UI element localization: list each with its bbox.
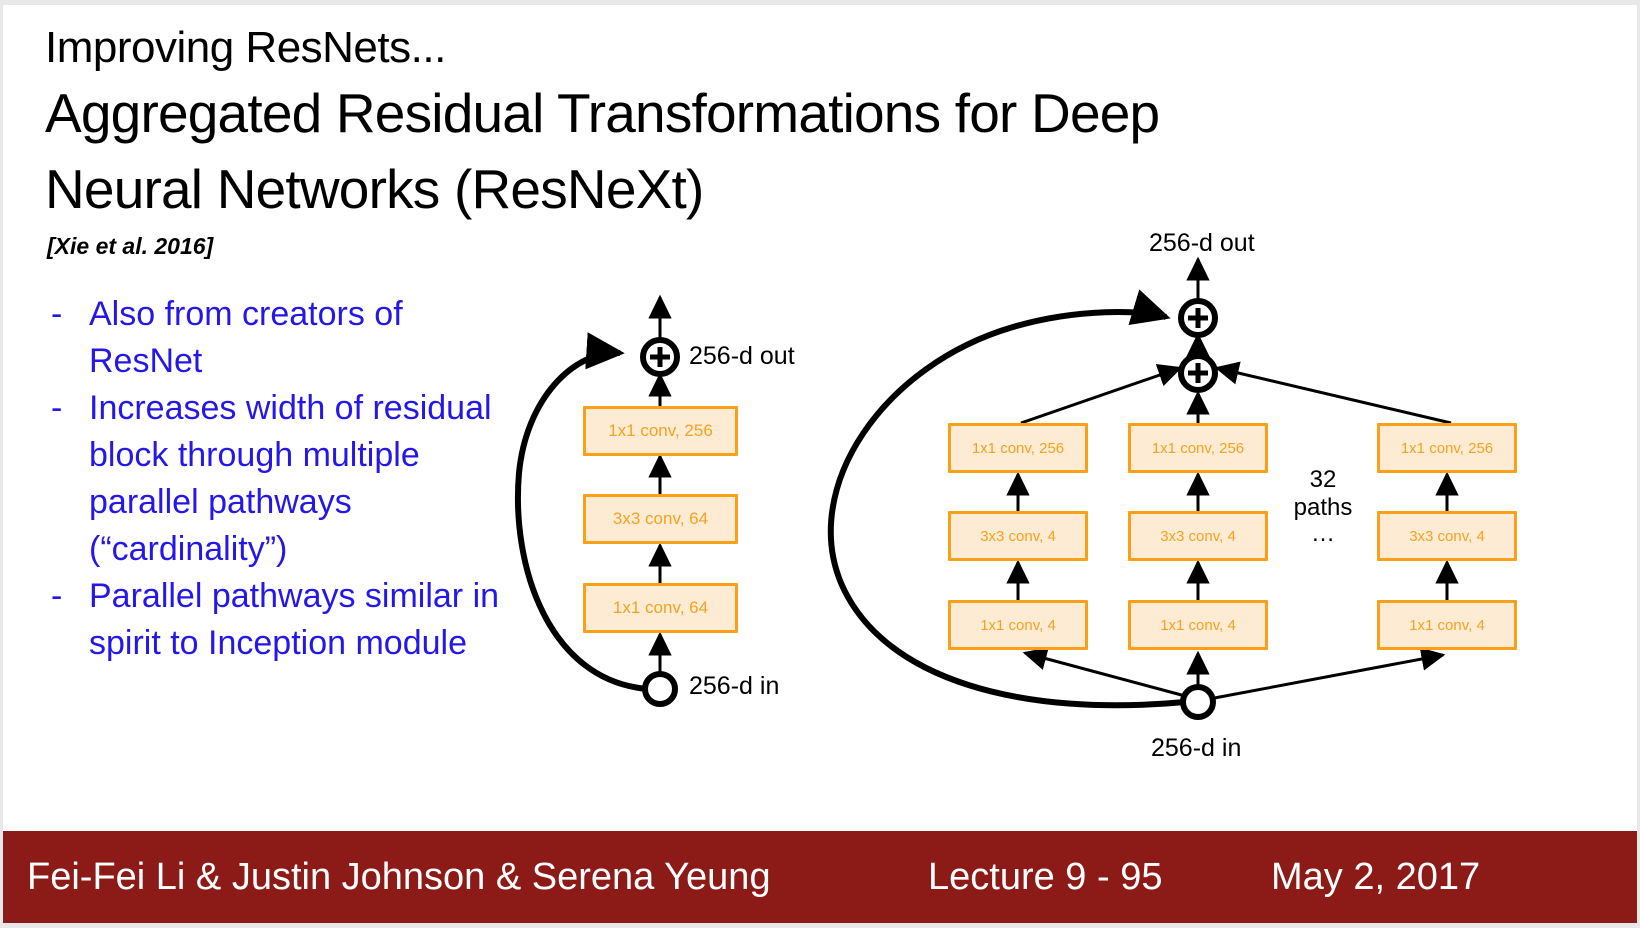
bullet-text: Also from creators of ResNet — [89, 291, 511, 385]
footer-authors: Fei-Fei Li & Justin Johnson & Serena Yeu… — [27, 831, 771, 923]
list-item: - Also from creators of ResNet — [51, 291, 511, 385]
bullet-dash-icon: - — [51, 385, 89, 432]
title-line-1: Aggregated Residual Transformations for … — [45, 75, 1445, 151]
slide-title-block: Improving ResNets... Aggregated Residual… — [45, 21, 1445, 227]
paths-count: 32 — [1283, 465, 1363, 495]
footer-lecture-number: Lecture 9 - 95 — [928, 831, 1162, 923]
footer-date: May 2, 2017 — [1271, 831, 1480, 923]
slide-canvas: Improving ResNets... Aggregated Residual… — [3, 5, 1637, 923]
bullet-text: Increases width of residual block throug… — [89, 385, 511, 573]
paths-ellipsis: … — [1283, 519, 1363, 549]
conv-block: 1x1 conv, 4 — [1377, 600, 1517, 650]
citation-reference: [Xie et al. 2016] — [47, 233, 213, 260]
conv-block: 1x1 conv, 64 — [583, 583, 738, 633]
conv-block: 1x1 conv, 256 — [948, 423, 1088, 473]
input-label: 256-d in — [1151, 734, 1241, 763]
list-item: - Increases width of residual block thro… — [51, 385, 511, 573]
bullet-dash-icon: - — [51, 291, 89, 338]
conv-block: 1x1 conv, 4 — [948, 600, 1088, 650]
conv-block: 1x1 conv, 256 — [583, 406, 738, 456]
list-item: - Parallel pathways similar in spirit to… — [51, 573, 511, 667]
bullet-text: Parallel pathways similar in spirit to I… — [89, 573, 511, 667]
conv-block: 1x1 conv, 256 — [1128, 423, 1268, 473]
conv-block: 3x3 conv, 64 — [583, 494, 738, 544]
conv-block: 3x3 conv, 4 — [948, 511, 1088, 561]
conv-block: 3x3 conv, 4 — [1128, 511, 1268, 561]
conv-block: 3x3 conv, 4 — [1377, 511, 1517, 561]
bullet-list: - Also from creators of ResNet - Increas… — [51, 291, 511, 667]
title-line-2: Neural Networks (ResNeXt) — [45, 151, 1445, 227]
footer-bar: Fei-Fei Li & Justin Johnson & Serena Yeu… — [3, 831, 1637, 923]
conv-block: 1x1 conv, 4 — [1128, 600, 1268, 650]
bullet-dash-icon: - — [51, 573, 89, 620]
input-label: 256-d in — [689, 672, 779, 701]
title-kicker: Improving ResNets... — [45, 21, 1445, 75]
output-label: 256-d out — [689, 342, 795, 371]
output-label: 256-d out — [1149, 229, 1255, 258]
conv-block: 1x1 conv, 256 — [1377, 423, 1517, 473]
